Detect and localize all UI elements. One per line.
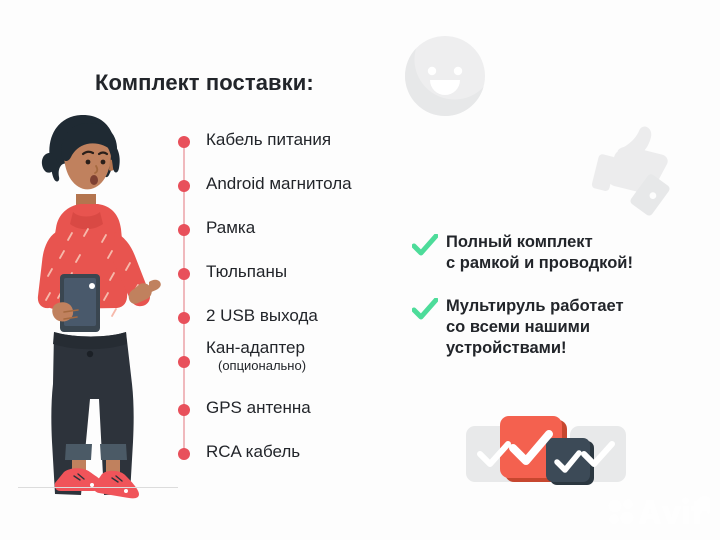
list-item-label: Кабель питания xyxy=(206,130,331,150)
list-item: GPS антенна xyxy=(178,400,428,422)
promo-canvas: Комплект поставки: xyxy=(0,0,720,540)
delivery-kit-list: Кабель питания Android магнитола Рамка Т… xyxy=(178,132,428,462)
list-item: Кабель питания xyxy=(178,132,428,154)
list-item: Тюльпаны xyxy=(178,264,428,286)
ground-line xyxy=(18,487,178,488)
list-item-label: Кан-адаптер xyxy=(206,338,305,358)
check-icon-gray-left xyxy=(476,440,512,468)
list-item-label: Android магнитола xyxy=(206,174,352,194)
checkbox-cluster xyxy=(466,414,626,486)
list-item: 2 USB выхода xyxy=(178,308,428,330)
bullet-dot xyxy=(178,268,190,280)
list-item: Android магнитола xyxy=(178,176,428,198)
bullet-dot xyxy=(178,180,190,192)
thumbs-up-icon xyxy=(583,118,683,218)
list-item-label: RCA кабель xyxy=(206,442,300,462)
smiley-face-icon xyxy=(404,35,486,117)
bullet-dot xyxy=(178,404,190,416)
bullet-dot xyxy=(178,356,190,368)
list-item: Кан-адаптер (опционально) xyxy=(178,352,428,374)
list-item-label: Рамка xyxy=(206,218,255,238)
benefit-text: Полный комплект с рамкой и проводкой! xyxy=(446,232,633,274)
bullet-dot xyxy=(178,312,190,324)
page-title: Комплект поставки: xyxy=(95,70,314,96)
list-item: RCA кабель xyxy=(178,444,428,466)
list-item-label: 2 USB выхода xyxy=(206,306,318,326)
check-icon-gray-right xyxy=(580,440,616,468)
bullet-dot xyxy=(178,136,190,148)
avito-watermark xyxy=(606,496,710,530)
list-item-sublabel: (опционально) xyxy=(218,358,306,373)
check-icon-red xyxy=(508,430,554,466)
bullet-dot xyxy=(178,224,190,236)
green-check-icon xyxy=(412,298,438,322)
green-check-icon xyxy=(412,234,438,258)
benefit-text: Мультируль работает со всеми нашими устр… xyxy=(446,296,624,359)
bullet-dot xyxy=(178,448,190,460)
woman-pointing-illustration xyxy=(12,108,172,508)
list-item: Рамка xyxy=(178,220,428,242)
list-item-label: Тюльпаны xyxy=(206,262,287,282)
check-icon-dark xyxy=(553,450,583,474)
list-item-label: GPS антенна xyxy=(206,398,311,418)
